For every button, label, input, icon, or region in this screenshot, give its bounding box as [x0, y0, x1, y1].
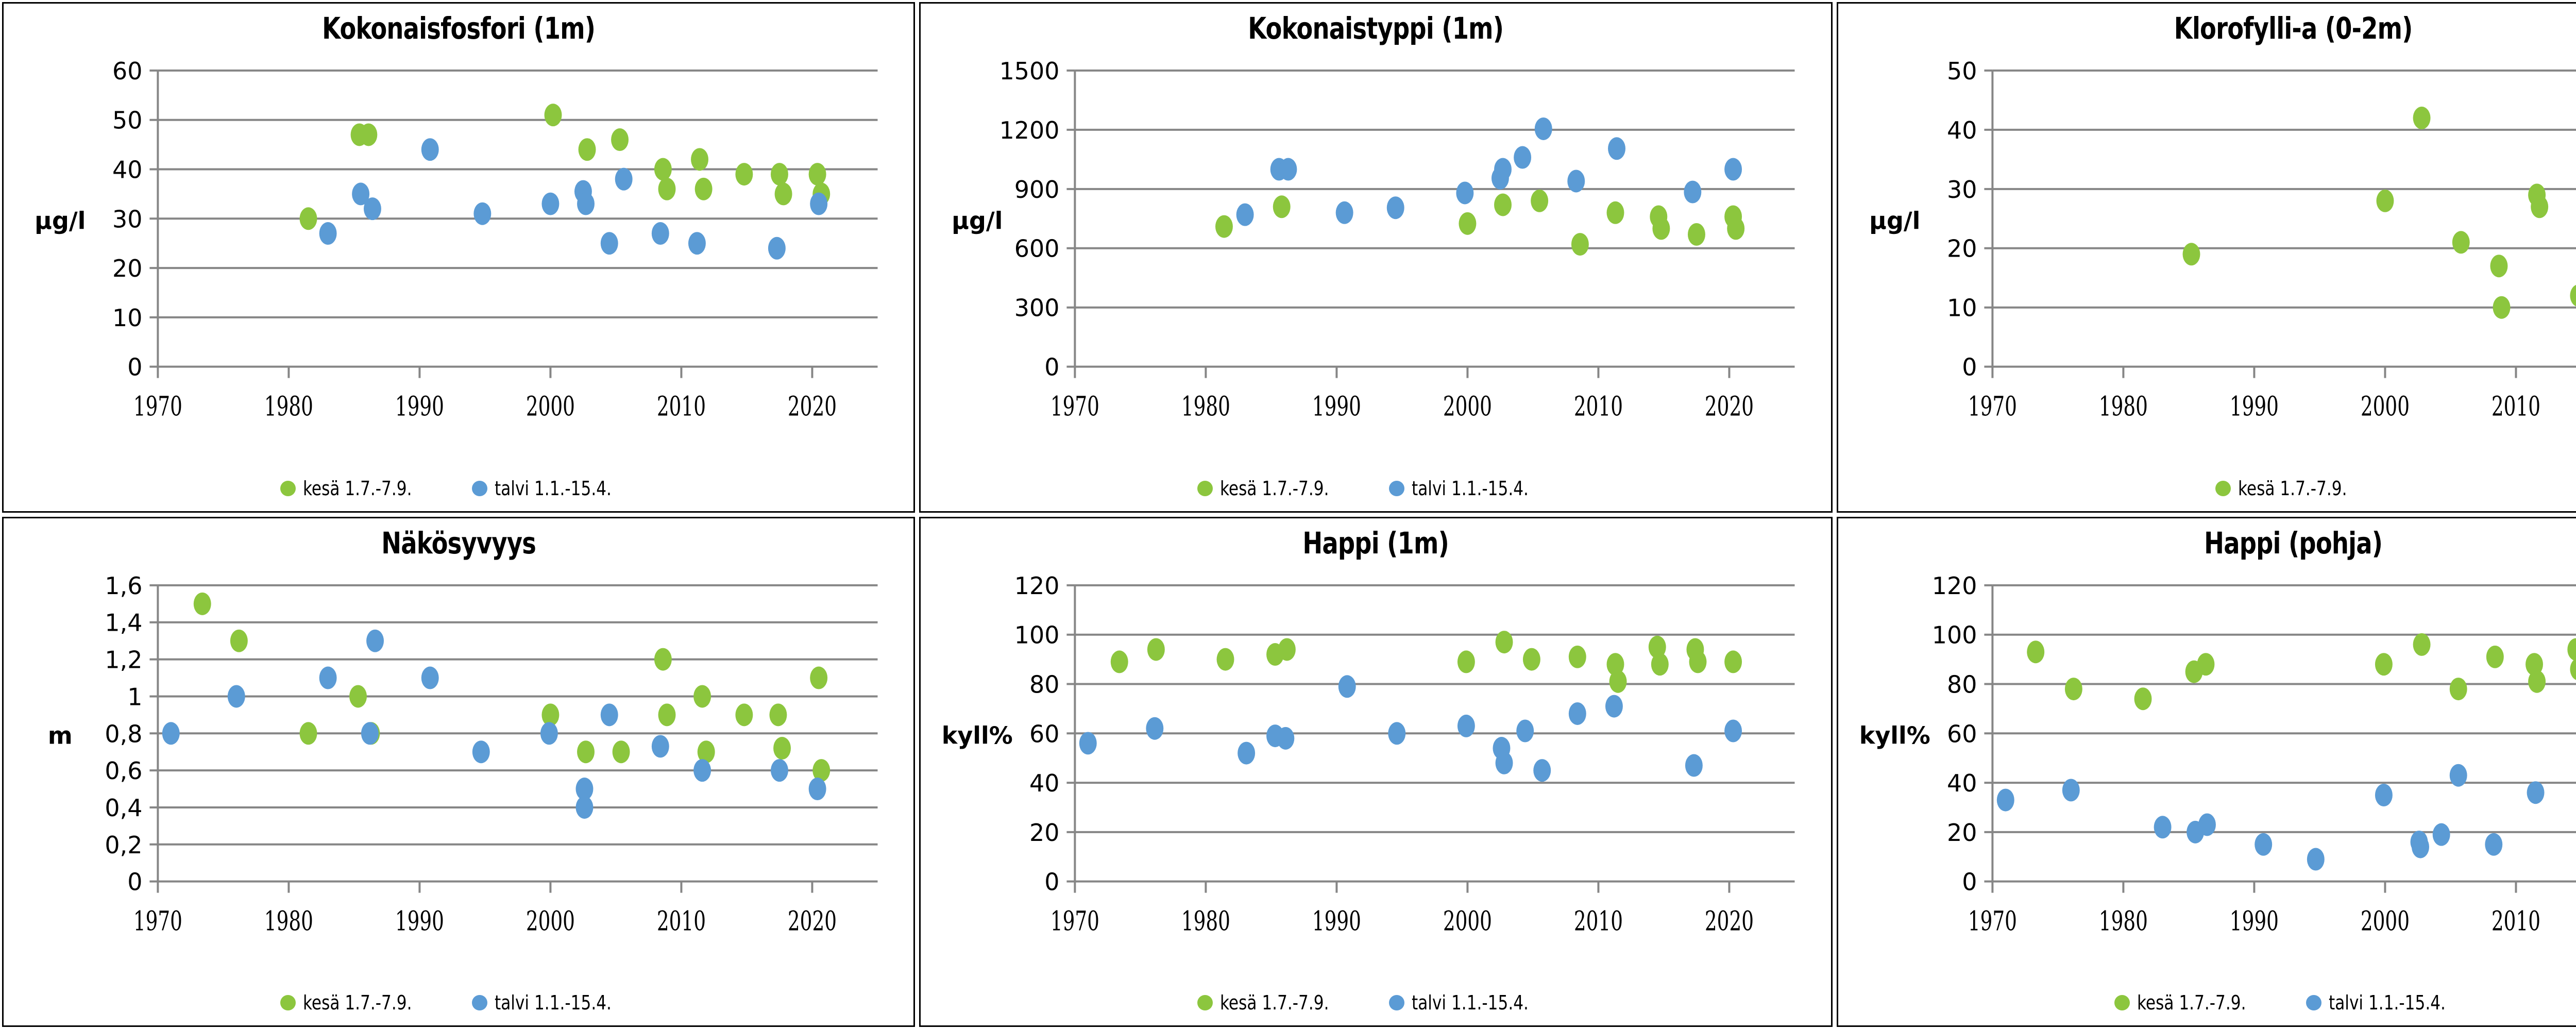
chart-legend-klorofylli-a: kesä 1.7.-7.9.: [1838, 477, 2576, 500]
data-point: [615, 168, 633, 191]
chart-legend-kokonaistyppi: kesä 1.7.-7.9.talvi 1.1.-15.4.: [921, 477, 1831, 500]
data-point: [579, 138, 596, 161]
data-point: [1569, 702, 1586, 724]
plot-svg-kokonaistyppi: 0300600900120015001970198019902000201020…: [921, 4, 1831, 511]
legend-marker-summer-icon: [1197, 995, 1213, 1010]
data-point: [601, 703, 618, 726]
data-point: [2485, 833, 2502, 855]
y-tick-label: 100: [1014, 621, 1060, 649]
data-point: [1278, 638, 1296, 661]
chart-legend-kokonaisfosfori: kesä 1.7.-7.9.talvi 1.1.-15.4.: [4, 477, 913, 500]
series-summer: [2182, 107, 2576, 319]
legend-marker-summer-icon: [280, 995, 296, 1010]
data-point: [2527, 781, 2544, 804]
data-point: [2413, 107, 2430, 129]
chart-legend-happi-1m: kesä 1.7.-7.9.talvi 1.1.-15.4.: [921, 991, 1831, 1014]
data-point: [1571, 233, 1589, 256]
x-tick-label: 1990: [2230, 905, 2279, 937]
data-point: [300, 722, 317, 745]
data-point: [2375, 653, 2393, 676]
data-point: [421, 666, 439, 689]
data-point: [613, 740, 630, 763]
data-point: [576, 796, 594, 818]
data-point: [1724, 719, 1742, 742]
data-point: [1387, 196, 1404, 219]
legend-item-summer[interactable]: kesä 1.7.-7.9.: [1197, 477, 1353, 500]
data-point: [472, 740, 490, 763]
y-tick-label: 1200: [999, 116, 1060, 144]
data-point: [1514, 146, 1531, 169]
plot-svg-nakosyvyys: 00,20,40,60,811,21,41,619701980199020002…: [4, 518, 913, 1026]
data-point: [361, 722, 379, 745]
data-point: [540, 722, 558, 745]
legend-label-summer: kesä 1.7.-7.9.: [303, 991, 412, 1014]
data-point: [2198, 813, 2216, 836]
data-point: [1494, 158, 1512, 181]
x-tick-label: 2020: [788, 391, 837, 422]
legend-item-summer[interactable]: kesä 1.7.-7.9.: [2215, 477, 2371, 500]
data-point: [735, 703, 753, 726]
data-point: [688, 232, 706, 255]
x-tick-label: 1980: [2099, 905, 2148, 937]
y-tick-label: 1,4: [105, 609, 142, 636]
legend-item-winter[interactable]: talvi 1.1.-15.4.: [1389, 991, 1554, 1014]
y-tick-label: 60: [1029, 720, 1059, 748]
data-point: [545, 104, 562, 126]
data-point: [2449, 764, 2467, 786]
y-tick-label: 300: [1014, 294, 1060, 322]
data-point: [810, 666, 827, 689]
data-point: [1456, 181, 1474, 204]
y-tick-label: 40: [1947, 116, 1977, 144]
data-point: [1684, 181, 1702, 204]
x-tick-label: 2010: [2492, 905, 2540, 937]
data-point: [2062, 779, 2079, 801]
data-point: [1111, 650, 1128, 673]
data-point: [2490, 255, 2507, 277]
y-tick-label: 40: [112, 156, 142, 183]
data-point: [1238, 741, 1256, 764]
data-point: [1724, 158, 1742, 181]
y-tick-label: 0,4: [105, 794, 142, 821]
series-winter: [319, 138, 827, 260]
data-point: [773, 737, 791, 760]
data-point: [228, 685, 245, 707]
data-point: [1605, 695, 1623, 717]
data-point: [2134, 687, 2151, 710]
x-tick-label: 2020: [788, 905, 837, 937]
legend-label-summer: kesä 1.7.-7.9.: [1220, 477, 1329, 500]
legend-item-summer[interactable]: kesä 1.7.-7.9.: [280, 991, 436, 1014]
x-tick-label: 2000: [526, 391, 575, 422]
legend-marker-summer-icon: [2215, 481, 2231, 496]
y-tick-label: 60: [112, 57, 142, 85]
data-point: [693, 685, 711, 707]
legend-item-winter[interactable]: talvi 1.1.-15.4.: [2306, 991, 2471, 1014]
data-point: [1147, 638, 1165, 661]
data-point: [541, 193, 559, 215]
y-tick-label: 20: [1947, 235, 1977, 263]
y-tick-label: 0: [127, 868, 142, 896]
y-tick-label: 0: [1962, 868, 1977, 896]
legend-label-summer: kesä 1.7.-7.9.: [1220, 991, 1329, 1014]
data-point: [577, 193, 595, 215]
data-point: [2528, 670, 2546, 693]
y-tick-label: 120: [1014, 571, 1060, 599]
legend-marker-winter-icon: [472, 481, 487, 496]
chart-legend-happi-pohja: kesä 1.7.-7.9.talvi 1.1.-15.4.: [1838, 991, 2576, 1014]
chart-panel-nakosyvyys: Näkösyvyys00,20,40,60,811,21,41,61970198…: [2, 517, 915, 1027]
data-point: [1651, 653, 1669, 676]
data-point: [2027, 640, 2044, 663]
legend-label-summer: kesä 1.7.-7.9.: [2137, 991, 2246, 1014]
data-point: [809, 778, 826, 800]
data-point: [1653, 217, 1670, 240]
data-point: [1277, 727, 1295, 749]
y-tick-label: 10: [112, 304, 142, 332]
y-tick-label: 80: [1947, 670, 1977, 698]
y-tick-label: 0,6: [105, 757, 142, 785]
series-summer: [194, 592, 830, 781]
data-point: [1236, 204, 1254, 226]
y-tick-label: 0: [1045, 353, 1060, 381]
data-point: [775, 182, 792, 205]
y-tick-label: 1: [127, 683, 142, 711]
data-point: [2375, 784, 2393, 806]
charts-grid: Kokonaisfosfori (1m)01020304050601970198…: [0, 0, 2576, 1029]
x-tick-label: 1990: [395, 905, 444, 937]
data-point: [1688, 223, 1705, 246]
data-point: [601, 232, 618, 255]
y-axis-label: kyll%: [1859, 721, 1930, 749]
x-tick-label: 1990: [2230, 391, 2279, 422]
data-point: [1609, 670, 1627, 693]
y-axis-label: kyll%: [942, 721, 1013, 749]
y-axis-label: µg/l: [952, 207, 1003, 234]
y-tick-label: 1500: [999, 57, 1060, 85]
data-point: [1388, 722, 1406, 745]
data-point: [693, 759, 711, 782]
plot-svg-kokonaisfosfori: 0102030405060197019801990200020102020µg/…: [4, 4, 913, 511]
legend-item-summer[interactable]: kesä 1.7.-7.9.: [2114, 991, 2270, 1014]
data-point: [366, 629, 384, 652]
chart-panel-kokonaistyppi: Kokonaistyppi (1m)0300600900120015001970…: [919, 2, 1832, 513]
data-point: [1494, 193, 1512, 216]
y-axis-label: µg/l: [35, 207, 86, 234]
data-point: [1531, 190, 1549, 212]
series-summer: [2027, 633, 2576, 710]
legend-marker-winter-icon: [1389, 995, 1404, 1010]
data-point: [2432, 823, 2450, 846]
series-winter: [1236, 117, 1742, 226]
plot-area-happi-pohja: 020406080100120197019801990200020102020k…: [1838, 518, 2576, 1026]
data-point: [1338, 675, 1356, 698]
data-point: [809, 163, 826, 185]
data-point: [1996, 788, 2014, 811]
chart-panel-happi-1m: Happi (1m)020406080100120197019801990200…: [919, 517, 1832, 1027]
data-point: [1727, 217, 1745, 240]
data-point: [349, 685, 367, 707]
data-point: [2567, 638, 2576, 661]
chart-panel-happi-pohja: Happi (pohja)020406080100120197019801990…: [1837, 517, 2576, 1027]
legend-item-winter[interactable]: talvi 1.1.-15.4.: [1389, 477, 1554, 500]
data-point: [658, 178, 676, 200]
x-tick-label: 1970: [1968, 391, 2017, 422]
data-point: [1458, 714, 1475, 737]
plot-svg-klorofylli-a: 01020304050197019801990200020102020µg/l: [1838, 4, 2576, 511]
x-tick-label: 2000: [1443, 391, 1492, 422]
data-point: [2182, 243, 2200, 265]
legend-item-summer[interactable]: kesä 1.7.-7.9.: [280, 477, 436, 500]
data-point: [473, 203, 491, 225]
data-point: [1724, 650, 1742, 673]
y-tick-label: 0: [1045, 868, 1060, 896]
y-tick-label: 20: [1029, 818, 1059, 846]
legend-marker-winter-icon: [472, 995, 487, 1010]
data-point: [2154, 816, 2171, 838]
data-point: [421, 138, 439, 161]
x-tick-label: 1970: [1050, 905, 1099, 937]
data-point: [771, 163, 788, 185]
data-point: [691, 148, 708, 171]
data-point: [2570, 284, 2576, 307]
y-tick-label: 30: [112, 205, 142, 233]
data-point: [1336, 201, 1353, 224]
data-point: [735, 163, 753, 185]
y-tick-label: 900: [1014, 176, 1060, 204]
data-point: [300, 207, 317, 230]
y-tick-label: 0,2: [105, 831, 142, 858]
data-point: [1217, 648, 1234, 670]
data-point: [162, 722, 180, 745]
data-point: [771, 759, 788, 782]
y-tick-label: 0: [1962, 353, 1977, 381]
data-point: [1458, 650, 1475, 673]
legend-item-winter[interactable]: talvi 1.1.-15.4.: [472, 477, 637, 500]
y-tick-label: 0: [127, 353, 142, 381]
data-point: [2307, 848, 2325, 870]
plot-area-kokonaistyppi: 0300600900120015001970198019902000201020…: [921, 4, 1831, 511]
data-point: [1079, 732, 1097, 754]
data-point: [577, 740, 595, 763]
x-tick-label: 2010: [1574, 905, 1623, 937]
data-point: [2486, 645, 2504, 668]
x-tick-label: 2020: [1705, 905, 1754, 937]
legend-marker-winter-icon: [2306, 995, 2321, 1010]
data-point: [611, 128, 629, 151]
data-point: [2376, 190, 2394, 212]
data-point: [695, 178, 713, 200]
x-tick-label: 1990: [395, 391, 444, 422]
x-tick-label: 1970: [133, 391, 182, 422]
y-tick-label: 30: [1947, 176, 1977, 204]
x-tick-label: 2000: [2361, 391, 2410, 422]
x-tick-label: 2010: [657, 905, 706, 937]
y-tick-label: 100: [1931, 621, 1977, 649]
chart-legend-nakosyvyys: kesä 1.7.-7.9.talvi 1.1.-15.4.: [4, 991, 913, 1014]
plot-area-klorofylli-a: 01020304050197019801990200020102020µg/l: [1838, 4, 2576, 511]
legend-label-summer: kesä 1.7.-7.9.: [303, 477, 412, 500]
y-tick-label: 120: [1931, 571, 1977, 599]
data-point: [2449, 678, 2467, 700]
data-point: [1569, 645, 1586, 668]
legend-marker-summer-icon: [1197, 481, 1213, 496]
legend-label-winter: talvi 1.1.-15.4.: [495, 991, 612, 1014]
data-point: [1280, 158, 1297, 181]
legend-label-winter: talvi 1.1.-15.4.: [1412, 477, 1529, 500]
series-winter: [162, 629, 826, 818]
x-tick-label: 2010: [657, 391, 706, 422]
data-point: [1496, 751, 1513, 774]
y-tick-label: 40: [1947, 769, 1977, 797]
legend-label-winter: talvi 1.1.-15.4.: [495, 477, 612, 500]
data-point: [769, 703, 787, 726]
y-tick-label: 1,6: [105, 571, 142, 599]
x-tick-label: 2000: [526, 905, 575, 937]
y-axis-label: µg/l: [1869, 207, 1920, 234]
data-point: [768, 237, 786, 260]
data-point: [2493, 296, 2510, 319]
data-point: [652, 222, 669, 245]
x-tick-label: 1970: [1050, 391, 1099, 422]
data-point: [319, 222, 337, 245]
data-point: [1496, 631, 1513, 653]
data-point: [1534, 759, 1551, 782]
x-tick-label: 1980: [264, 905, 313, 937]
plot-svg-happi-pohja: 020406080100120197019801990200020102020k…: [1838, 518, 2576, 1026]
legend-item-summer[interactable]: kesä 1.7.-7.9.: [1197, 991, 1353, 1014]
data-point: [1517, 719, 1534, 742]
data-point: [654, 158, 672, 181]
series-winter: [1996, 764, 2576, 870]
data-point: [2197, 653, 2214, 676]
data-point: [194, 592, 211, 615]
legend-marker-winter-icon: [1389, 481, 1404, 496]
y-tick-label: 80: [1029, 670, 1059, 698]
x-tick-label: 2020: [1705, 391, 1754, 422]
plot-area-nakosyvyys: 00,20,40,60,811,21,41,619701980199020002…: [4, 518, 913, 1026]
data-point: [364, 197, 381, 220]
series-winter: [1079, 675, 1742, 782]
y-tick-label: 50: [112, 107, 142, 134]
data-point: [319, 666, 337, 689]
data-point: [1273, 195, 1291, 218]
x-tick-label: 1980: [264, 391, 313, 422]
data-point: [1146, 717, 1164, 739]
data-point: [360, 123, 377, 146]
x-tick-label: 1980: [1181, 905, 1230, 937]
data-point: [1523, 648, 1540, 670]
data-point: [1689, 650, 1707, 673]
y-tick-label: 10: [1947, 294, 1977, 322]
legend-label-winter: talvi 1.1.-15.4.: [2329, 991, 2446, 1014]
x-tick-label: 1990: [1312, 391, 1361, 422]
data-point: [2412, 835, 2429, 858]
data-point: [1535, 117, 1552, 140]
data-point: [2531, 195, 2548, 218]
data-point: [658, 703, 676, 726]
data-point: [1568, 170, 1585, 193]
data-point: [810, 193, 827, 215]
data-point: [1685, 754, 1703, 777]
plot-area-kokonaisfosfori: 0102030405060197019801990200020102020µg/…: [4, 4, 913, 511]
data-point: [1459, 212, 1477, 235]
legend-marker-summer-icon: [2114, 995, 2130, 1010]
data-point: [2255, 833, 2272, 855]
y-tick-label: 600: [1014, 235, 1060, 263]
data-point: [1215, 215, 1233, 238]
y-tick-label: 20: [1947, 818, 1977, 846]
data-point: [1607, 201, 1624, 224]
y-tick-label: 60: [1947, 720, 1977, 748]
data-point: [652, 735, 669, 757]
y-tick-label: 1,2: [105, 646, 142, 673]
data-point: [230, 629, 248, 652]
data-point: [2570, 657, 2576, 680]
data-point: [2452, 231, 2469, 254]
y-tick-label: 20: [112, 255, 142, 282]
x-tick-label: 1980: [1181, 391, 1230, 422]
chart-panel-kokonaisfosfori: Kokonaisfosfori (1m)01020304050601970198…: [2, 2, 915, 513]
y-axis-label: m: [48, 721, 73, 749]
y-tick-label: 50: [1947, 57, 1977, 85]
legend-item-winter[interactable]: talvi 1.1.-15.4.: [472, 991, 637, 1014]
x-tick-label: 2000: [2361, 905, 2410, 937]
legend-label-summer: kesä 1.7.-7.9.: [2238, 477, 2347, 500]
data-point: [654, 648, 672, 670]
plot-svg-happi-1m: 020406080100120197019801990200020102020k…: [921, 518, 1831, 1026]
y-tick-label: 40: [1029, 769, 1059, 797]
y-tick-label: 0,8: [105, 720, 142, 748]
x-tick-label: 1980: [2099, 391, 2148, 422]
x-tick-label: 2000: [1443, 905, 1492, 937]
series-summer: [1215, 190, 1744, 256]
x-tick-label: 2010: [1574, 391, 1623, 422]
chart-panel-klorofylli-a: Klorofylli-a (0-2m)010203040501970198019…: [1837, 2, 2576, 513]
plot-area-happi-1m: 020406080100120197019801990200020102020k…: [921, 518, 1831, 1026]
x-tick-label: 1970: [1968, 905, 2017, 937]
data-point: [2413, 633, 2430, 655]
legend-marker-summer-icon: [280, 481, 296, 496]
x-tick-label: 1990: [1312, 905, 1361, 937]
legend-label-winter: talvi 1.1.-15.4.: [1412, 991, 1529, 1014]
x-tick-label: 2010: [2492, 391, 2540, 422]
data-point: [1608, 137, 1625, 160]
x-tick-label: 1970: [133, 905, 182, 937]
data-point: [2065, 678, 2082, 700]
